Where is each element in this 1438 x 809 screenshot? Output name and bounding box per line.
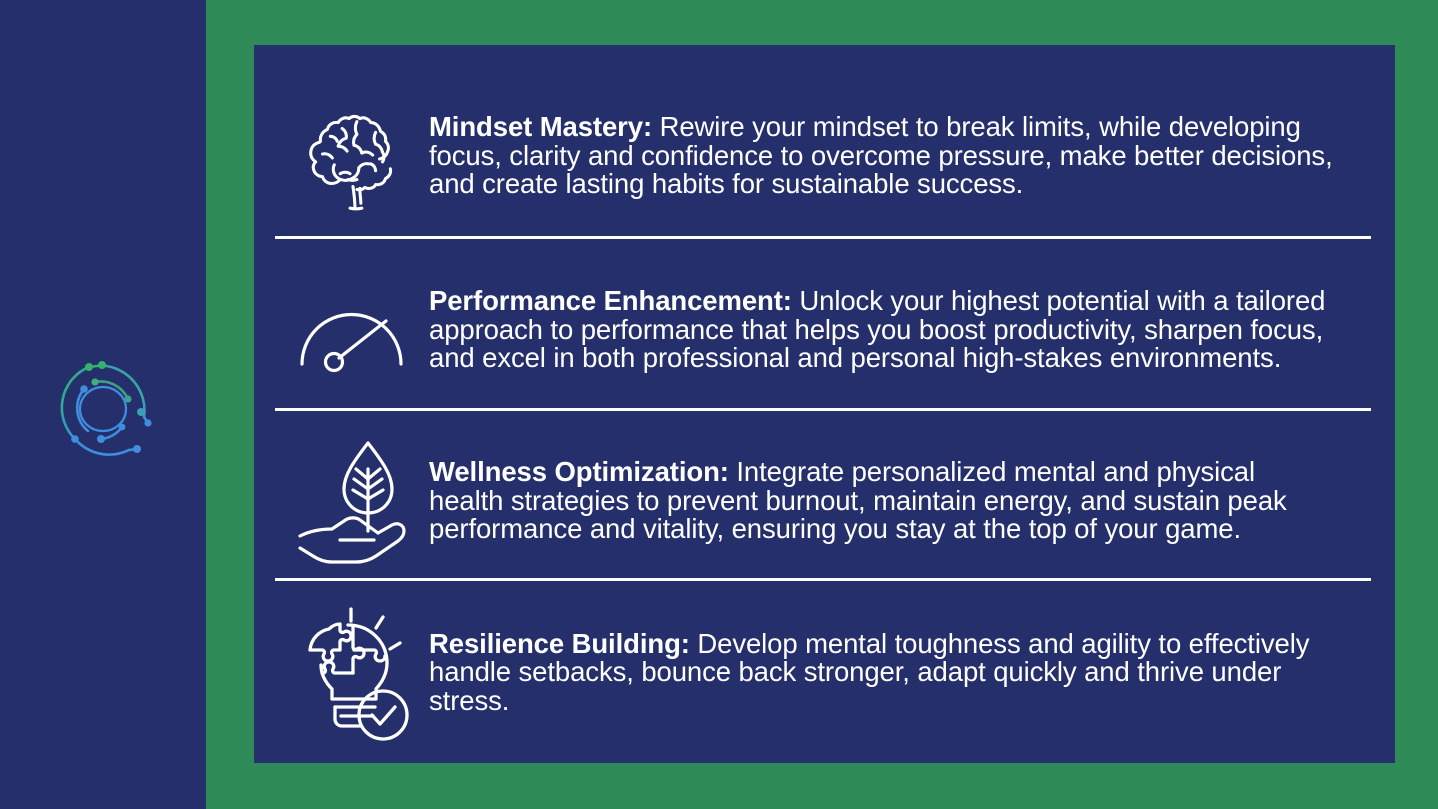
left-sidebar-panel xyxy=(0,0,206,809)
feature-row: Performance Enhancement: Unlock your hig… xyxy=(254,250,1395,410)
feature-list: Mindset Mastery: Rewire your mindset to … xyxy=(254,45,1395,763)
feature-text: Mindset Mastery: Rewire your mindset to … xyxy=(429,113,1356,199)
feature-title: Performance Enhancement: xyxy=(429,285,792,316)
feature-title: Wellness Optimization: xyxy=(429,456,729,487)
feature-row: Resilience Building: Develop mental toug… xyxy=(254,590,1395,755)
puzzle-lightbulb-check-icon xyxy=(274,603,429,743)
feature-title: Mindset Mastery: xyxy=(429,111,652,142)
feature-text: Wellness Optimization: Integrate persona… xyxy=(429,458,1356,544)
feature-row: Wellness Optimization: Integrate persona… xyxy=(254,420,1395,582)
feature-row: Mindset Mastery: Rewire your mindset to … xyxy=(254,75,1395,237)
brain-icon xyxy=(274,97,429,215)
leaf-in-hand-icon xyxy=(274,435,429,567)
feature-title: Resilience Building: xyxy=(429,628,690,659)
slide-canvas: Mindset Mastery: Rewire your mindset to … xyxy=(0,0,1438,809)
row-separator xyxy=(275,408,1371,411)
feature-text: Resilience Building: Develop mental toug… xyxy=(429,630,1356,716)
row-separator xyxy=(275,578,1371,581)
feature-text: Performance Enhancement: Unlock your hig… xyxy=(429,287,1356,373)
feature-card: Mindset Mastery: Rewire your mindset to … xyxy=(254,45,1395,763)
orbit-network-logo-icon xyxy=(49,355,157,463)
row-separator xyxy=(275,236,1371,239)
speedometer-gauge-icon xyxy=(274,282,429,378)
